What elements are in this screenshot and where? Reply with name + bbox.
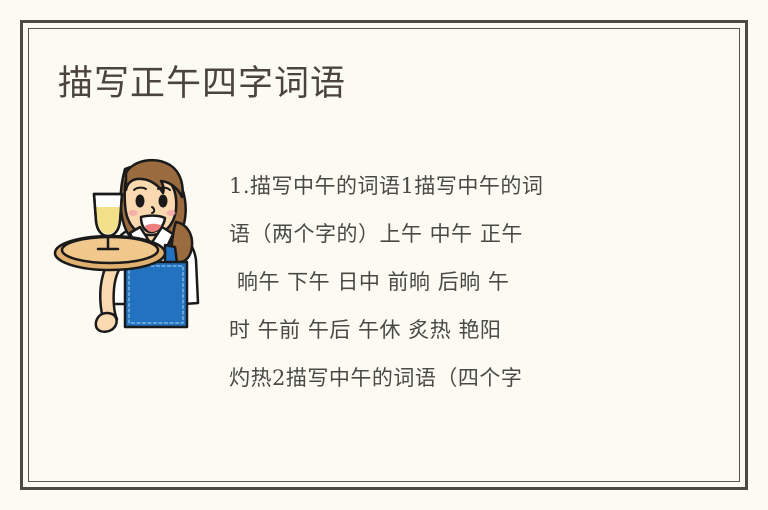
body-line-1: 1.描写中午的词语1描写中午的词: [229, 162, 669, 210]
body-line-2: 语（两个字的）上午 中午 正午: [229, 210, 669, 258]
page-title: 描写正午四字词语: [58, 62, 346, 106]
body-line-5: 灼热2描写中午的词语（四个字: [229, 354, 669, 402]
body-line-4: 时 午前 午后 午休 炙热 艳阳: [229, 306, 669, 354]
body-line-3: 晌午 下午 日中 前晌 后晌 午: [229, 258, 669, 306]
waitress-illustration: [50, 138, 210, 338]
article-body: 1.描写中午的词语1描写中午的词 语（两个字的）上午 中午 正午 晌午 下午 日…: [229, 162, 669, 402]
article-card: 描写正午四字词语: [0, 0, 768, 510]
